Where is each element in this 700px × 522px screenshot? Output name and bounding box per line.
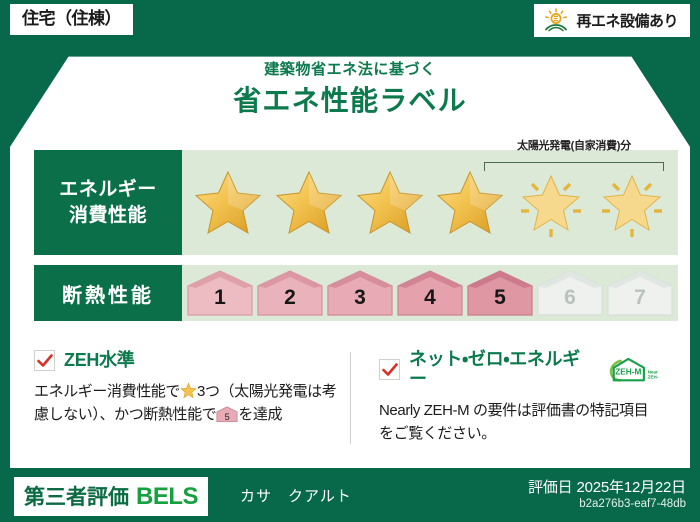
building-type-tag: 住宅（住棟）: [10, 4, 133, 35]
check-icon-nze: [379, 359, 400, 380]
solar-annotation: 太陽光発電(自家消費)分: [476, 149, 672, 171]
criteria-nze-title: ネット・ゼロ・エネルギー: [409, 350, 592, 390]
solar-annotation-bracket: [484, 162, 664, 171]
criteria-section: ZEH水準 エネルギー消費性能で3つ（太陽光発電は考慮しない）、かつ断熱性能で5…: [34, 350, 672, 445]
svg-text:ZEH-M: ZEH-M: [616, 367, 642, 376]
svg-text:ZEH-M: ZEH-M: [648, 374, 658, 379]
insulation-performance-row: 断熱性能 1 2 3 4: [34, 265, 678, 321]
insulation-level-2-number: 2: [256, 269, 324, 317]
page-title: 省エネ性能ラベル: [0, 83, 700, 118]
bels-badge: 第三者評価 BELS: [14, 477, 208, 516]
energy-performance-label: エネルギー 消費性能: [34, 150, 182, 255]
criteria-nze-body: Nearly ZEH-M の要件は評価書の特記項目をご覧ください。: [379, 399, 658, 446]
evaluation-id: b2a276b3-eaf7-48db: [579, 498, 686, 510]
label-subtitle: 建築物省エネ法に基づく: [0, 60, 700, 80]
insulation-level-7: 7: [606, 269, 674, 317]
insulation-level-4-number: 4: [396, 269, 464, 317]
title-block: 建築物省エネ法に基づく 省エネ性能ラベル: [0, 60, 700, 118]
criteria-zeh-body-pre: エネルギー消費性能で: [34, 383, 180, 400]
criteria-nze-header: ネット・ゼロ・エネルギー ZEH-M Nearly ZEH-M: [379, 350, 658, 390]
star-icon-3: [354, 167, 426, 239]
energy-label-card: 住宅（住棟） 再エネ設備あり 建築物省エネ法に基づく 省エネ性能ラベル: [0, 0, 700, 522]
bels-badge-jp: 第三者評価: [24, 481, 129, 511]
star-icon-2: [273, 167, 345, 239]
insulation-level-6: 6: [536, 269, 604, 317]
insulation-level-1-number: 1: [186, 269, 254, 317]
insulation-level-5: 5: [466, 269, 534, 317]
footer: 第三者評価 BELS カサ クアルト 評価日 2025年12月22日 b2a27…: [0, 468, 700, 522]
renewable-badge-label: 再エネ設備あり: [576, 10, 678, 31]
solar-sun-icon: [543, 8, 569, 32]
building-name: カサ クアルト: [240, 485, 352, 506]
criteria-zeh-header: ZEH水準: [34, 350, 339, 371]
star-icon-inline: [180, 382, 197, 399]
star-icon-5-solar: [515, 167, 587, 239]
energy-label-line1: エネルギー: [59, 177, 157, 203]
bels-badge-en: BELS: [136, 483, 198, 511]
insulation-level-1: 1: [186, 269, 254, 317]
insulation-performance-label: 断熱性能: [34, 265, 182, 321]
zeh-m-logo: ZEH-M Nearly ZEH-M: [605, 356, 658, 384]
house-level-strip: 1 2 3 4 5: [182, 269, 678, 317]
criteria-zeh-standard: ZEH水準 エネルギー消費性能で3つ（太陽光発電は考慮しない）、かつ断熱性能で5…: [34, 350, 353, 445]
insulation-level-7-number: 7: [606, 269, 674, 317]
evaluation-date: 評価日 2025年12月22日: [528, 476, 686, 497]
insulation-level-4: 4: [396, 269, 464, 317]
insulation-level-3-number: 3: [326, 269, 394, 317]
insulation-level-3: 3: [326, 269, 394, 317]
insulation-level-2: 2: [256, 269, 324, 317]
insulation-level-6-number: 6: [536, 269, 604, 317]
insulation-level-track: 1 2 3 4 5: [182, 265, 678, 321]
star-strip: [182, 167, 678, 239]
renewable-energy-badge: 再エネ設備あり: [534, 4, 690, 37]
svg-text:5: 5: [225, 412, 230, 422]
energy-label-line2: 消費性能: [69, 203, 147, 229]
star-icon-1: [192, 167, 264, 239]
star-icon-4: [434, 167, 506, 239]
energy-performance-row: エネルギー 消費性能: [34, 150, 678, 255]
insulation-level-5-number: 5: [466, 269, 534, 317]
criteria-net-zero-energy: ネット・ゼロ・エネルギー ZEH-M Nearly ZEH-M Nearly Z…: [353, 350, 672, 445]
criteria-zeh-body: エネルギー消費性能で3つ（太陽光発電は考慮しない）、かつ断熱性能で5を達成: [34, 380, 339, 427]
energy-star-track: 太陽光発電(自家消費)分: [182, 150, 678, 255]
star-icon-6-solar: [596, 167, 668, 239]
house-level-icon-inline: 5: [216, 406, 238, 423]
criteria-zeh-title: ZEH水準: [64, 351, 135, 371]
criteria-zeh-body-post: を達成: [238, 406, 282, 423]
check-icon-zeh: [34, 350, 55, 371]
solar-annotation-label: 太陽光発電(自家消費)分: [476, 141, 672, 152]
